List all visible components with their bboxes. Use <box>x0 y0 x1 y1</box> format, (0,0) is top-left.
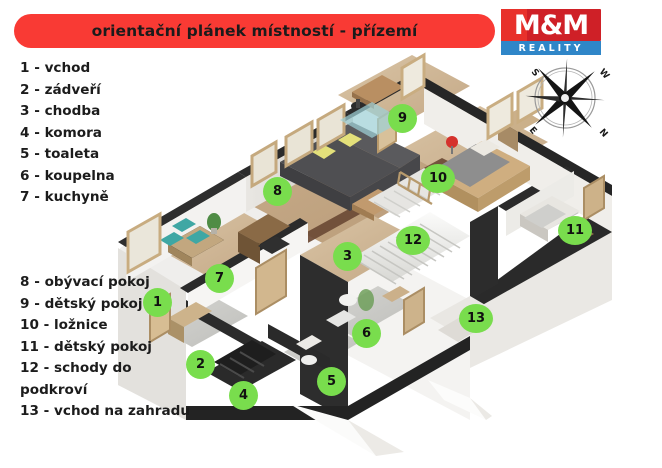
legend-item: 10 - ložnice <box>20 315 190 337</box>
room-marker-8[interactable]: 8 <box>263 177 292 206</box>
room-marker-4[interactable]: 4 <box>229 381 258 410</box>
logo-brand-text: M&M <box>501 9 601 41</box>
legend-item: 6 - koupelna <box>20 166 115 188</box>
legend-item: 11 - dětský pokoj <box>20 337 190 359</box>
room-marker-12[interactable]: 12 <box>396 226 430 255</box>
room-marker-6[interactable]: 6 <box>352 319 381 348</box>
compass-label-south: S <box>529 67 541 79</box>
legend-item: 9 - dětský pokoj <box>20 294 190 316</box>
legend-item: 5 - toaleta <box>20 144 115 166</box>
page-title: orientační plánek místností - přízemí <box>92 22 418 40</box>
logo-subtitle-text: REALITY <box>518 43 583 54</box>
legend-item: 1 - vchod <box>20 58 115 80</box>
legend-item: 13 - vchod na zahradu <box>20 401 190 423</box>
room-marker-5[interactable]: 5 <box>317 367 346 396</box>
legend-item: 2 - zádveří <box>20 80 115 102</box>
logo-brand-block: M&M <box>501 9 601 41</box>
compass-label-east: E <box>527 125 539 136</box>
compass-rose: W N E S <box>519 52 611 144</box>
room-marker-10[interactable]: 10 <box>421 164 455 193</box>
room-marker-3[interactable]: 3 <box>333 242 362 271</box>
logo-subtitle-block: REALITY <box>501 41 601 55</box>
legend-rooms-8-13: 8 - obývací pokoj 9 - dětský pokoj 10 - … <box>20 272 190 423</box>
room-marker-13[interactable]: 13 <box>459 304 493 333</box>
floorplan-page: orientační plánek místností - přízemí M&… <box>0 0 662 468</box>
mm-reality-logo: M&M REALITY <box>501 9 601 55</box>
legend-rooms-1-7: 1 - vchod 2 - zádveří 3 - chodba 4 - kom… <box>20 58 115 209</box>
legend-item: 12 - schody do <box>20 358 190 380</box>
legend-item: 7 - kuchyně <box>20 187 115 209</box>
room-marker-7[interactable]: 7 <box>205 264 234 293</box>
legend-item: 4 - komora <box>20 123 115 145</box>
legend-item: 3 - chodba <box>20 101 115 123</box>
legend-item: podkroví <box>20 380 190 402</box>
legend-item: 8 - obývací pokoj <box>20 272 190 294</box>
compass-label-west: W <box>597 67 611 81</box>
room-marker-9[interactable]: 9 <box>388 104 417 133</box>
room-marker-2[interactable]: 2 <box>186 350 215 379</box>
compass-label-north: N <box>597 127 609 139</box>
room-marker-11[interactable]: 11 <box>558 216 592 245</box>
page-title-banner: orientační plánek místností - přízemí <box>14 14 495 48</box>
